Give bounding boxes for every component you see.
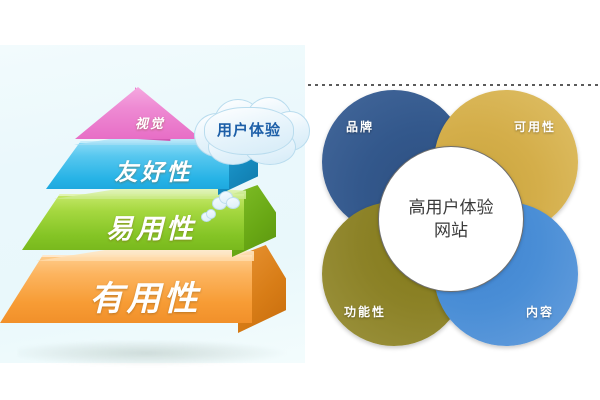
venn-lobe-label-functionality: 功能性 bbox=[344, 303, 386, 320]
thought-trail-puff-small bbox=[206, 209, 216, 219]
ux-venn-figure: 品牌 可用性 功能性 内容 高用户体验 网站 bbox=[322, 90, 578, 346]
venn-center-circle[interactable]: 高用户体验 网站 bbox=[378, 146, 524, 292]
venn-lobe-label-usability: 可用性 bbox=[514, 118, 556, 135]
tier-visual-front-face bbox=[75, 87, 201, 139]
dotted-divider-line bbox=[308, 84, 598, 86]
venn-lobe-label-brand: 品牌 bbox=[346, 118, 374, 135]
venn-center-text: 高用户体验 网站 bbox=[409, 196, 494, 243]
venn-center-line-1: 高用户体验 bbox=[409, 196, 494, 219]
ux-pyramid-figure: 有用性 易用性 友好性 视觉 bbox=[0, 45, 305, 363]
thought-trail-puff-large bbox=[226, 197, 240, 209]
venn-lobe-label-content: 内容 bbox=[526, 303, 554, 320]
diagram-canvas: 有用性 易用性 友好性 视觉 bbox=[0, 0, 600, 400]
venn-center-line-2: 网站 bbox=[409, 219, 494, 242]
tier-useful-front-face bbox=[0, 255, 252, 323]
thought-bubble-icon: 用户体验 bbox=[188, 97, 310, 165]
thought-bubble-text: 用户体验 bbox=[188, 119, 310, 140]
